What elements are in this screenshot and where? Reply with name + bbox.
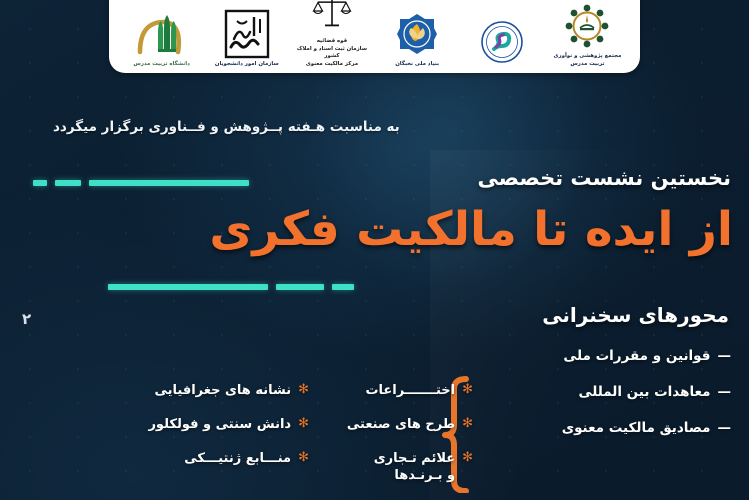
blue-star-flower-icon [395, 9, 439, 59]
dash-bullet: — [718, 420, 732, 436]
list-item-label: دانش سنتی و فولکلور [148, 416, 291, 433]
logo-caption: دانشگاه تربیت مدرس [133, 61, 190, 69]
green-tulip-arch-icon [136, 9, 188, 59]
asterisk-bullet-icon: ✻ [462, 382, 473, 398]
topics-heading: محورهای سخنرانی [29, 303, 729, 327]
octagon-emblem-icon [565, 1, 609, 51]
logo-student-affairs-organization: سازمان امور دانشجویان [205, 0, 289, 69]
logo-caption: قوه قضائیه سازمان ثبت اسناد و املاک کشور… [290, 38, 374, 69]
rule-dash [108, 284, 268, 290]
decorative-rule-bottom [108, 284, 354, 290]
logo-national-elites-foundation: بنیاد ملی نخبگان [375, 0, 459, 69]
dash-bullet: — [718, 384, 732, 400]
list-item: ✻ دانش سنتی و فولکلور [99, 416, 309, 433]
event-kicker: نخستین نشست تخصصی [31, 166, 731, 190]
list-item-label: اختـــــــراعات [365, 382, 455, 399]
scales-of-justice-icon [310, 0, 354, 36]
list-item-label: منـــابع ژنتیـــکی [184, 450, 291, 467]
list-item: ✻ منـــابع ژنتیـــکی [99, 450, 309, 467]
circular-wave-emblem-icon [480, 17, 524, 67]
list-item-label: علائم تـجاری و بـرنـدها [374, 450, 455, 484]
logo-tarbiat-modares-university: دانشگاه تربیت مدرس [120, 0, 204, 69]
topics-column-left: ✻ نشانه های جغرافیایی ✻ دانش سنتی و فولک… [99, 382, 309, 484]
sponsor-logo-bar: مجتمع پژوهشی و نوآوری تربیت مدرس [109, 0, 640, 73]
logo-judiciary-intellectual-property-center: قوه قضائیه سازمان ثبت اسناد و املاک کشور… [290, 0, 374, 69]
logo-caption: سازمان امور دانشجویان [215, 61, 279, 69]
list-item: ✻ نشانه های جغرافیایی [99, 382, 309, 399]
list-item-label: طرح های صنعتی [347, 416, 455, 433]
rule-dash [332, 284, 354, 290]
asterisk-bullet-icon: ✻ [298, 382, 309, 398]
logo-science-technology-park [460, 0, 544, 69]
asterisk-bullet-icon: ✻ [298, 450, 309, 466]
logo-caption: بنیاد ملی نخبگان [395, 61, 439, 69]
list-item-label: نشانه های جغرافیایی [154, 382, 291, 399]
list-item-label: قوانین و مقررات ملی [563, 348, 710, 366]
list-item-label: معاهدات بین المللی [579, 384, 711, 402]
logo-tarbiat-modares-research-complex: مجتمع پژوهشی و نوآوری تربیت مدرس [545, 0, 629, 69]
dash-bullet: — [718, 348, 732, 364]
page-title: از ایده تا مالکیت فکری [17, 205, 733, 254]
list-item: — قوانین و مقررات ملی [401, 348, 731, 366]
asterisk-bullet-icon: ✻ [462, 450, 473, 466]
list-item-label: مصادیق مالکیت معنوی [562, 420, 711, 438]
event-poster: مجتمع پژوهشی و نوآوری تربیت مدرس [0, 0, 749, 500]
rule-dash [276, 284, 324, 290]
asterisk-bullet-icon: ✻ [298, 416, 309, 432]
calligraphy-emblem-icon [224, 9, 270, 59]
occasion-line: به مناسبت هـفته پــژوهش و فــناوری برگزا… [53, 119, 713, 135]
asterisk-bullet-icon: ✻ [462, 416, 473, 432]
logo-caption: مجتمع پژوهشی و نوآوری تربیت مدرس [554, 53, 622, 69]
